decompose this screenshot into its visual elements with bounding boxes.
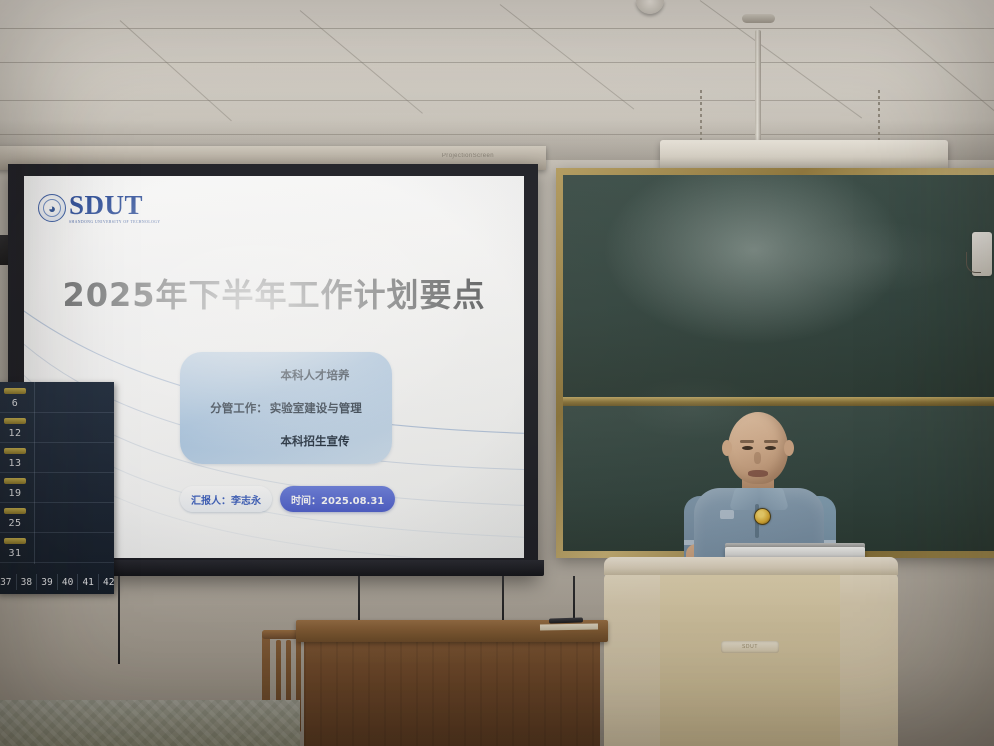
info-row-3: 本科招生宣传: [180, 425, 392, 458]
seat-number: 6: [0, 396, 32, 411]
slide-title: 2025年下半年工作计划要点: [24, 270, 524, 316]
wall-device-cable: [966, 252, 981, 273]
sdut-wordmark: SDUT: [69, 192, 161, 219]
ceiling: [0, 0, 994, 160]
hanging-cable: [118, 576, 120, 664]
seat-number: 37: [0, 574, 17, 590]
seat-number: 13: [0, 456, 32, 471]
overhead-light-icon: [660, 140, 948, 170]
seat-number: 19: [0, 486, 32, 501]
seat-bottom-row: 37 38 39 40 41 42: [0, 574, 114, 590]
seat-number: 31: [0, 546, 32, 561]
seat-number: 42: [99, 574, 114, 590]
podium: SDUT: [604, 557, 898, 746]
blackboard-upper-panel: [563, 175, 994, 397]
info-row-2: 分管工作： 实验室建设与管理: [180, 392, 392, 425]
gold-crest-emblem-icon: [754, 508, 771, 525]
seat-number: 39: [37, 574, 58, 590]
light-chain-left: [700, 90, 702, 142]
info-item-3: 本科招生宣传: [281, 433, 350, 449]
info-item-1: 本科人才培养: [281, 367, 350, 383]
screen-brand-label: ProjectionScreen: [442, 153, 494, 159]
microphone-ceiling-mount: [742, 14, 775, 23]
slide-info-card: 本科人才培养 分管工作： 实验室建设与管理 本科招生宣传: [180, 352, 392, 464]
seat-number: 40: [58, 574, 79, 590]
desk-paper: [540, 623, 598, 630]
presenter-badge: 汇报人：李志永: [180, 486, 272, 512]
seat-number: 12: [0, 426, 32, 441]
info-row-1: 本科人才培养: [180, 359, 392, 392]
seat-number-panel: 6 12 13 19 25 31 37 38 39 40 41 42: [0, 382, 114, 594]
sdut-seal-icon: ◕: [38, 194, 66, 222]
info-item-2: 实验室建设与管理: [270, 400, 362, 416]
seat-number: 41: [78, 574, 99, 590]
seat-number: 25: [0, 516, 32, 531]
slide-badges: 汇报人：李志永 时间：2025.08.31: [180, 484, 406, 514]
podium-name-plate: SDUT: [721, 641, 779, 653]
light-chain-right: [878, 90, 880, 142]
sdut-logo-subtitle: SHANDONG UNIVERSITY OF TECHNOLOGY: [69, 221, 161, 225]
seat-number: 38: [17, 574, 38, 590]
date-badge: 时间：2025.08.31: [280, 486, 395, 512]
teacher-desk: [296, 620, 608, 746]
sdut-logo: ◕ SDUT SHANDONG UNIVERSITY OF TECHNOLOGY: [38, 192, 161, 225]
info-card-label: 分管工作：: [210, 400, 268, 416]
shirt-pocket-logo: [720, 510, 734, 519]
classroom-photo: ProjectionScreen ◕ SDUT SHANDONG UNIVERS…: [0, 0, 994, 746]
floor-terrazzo-pattern: [0, 700, 300, 746]
